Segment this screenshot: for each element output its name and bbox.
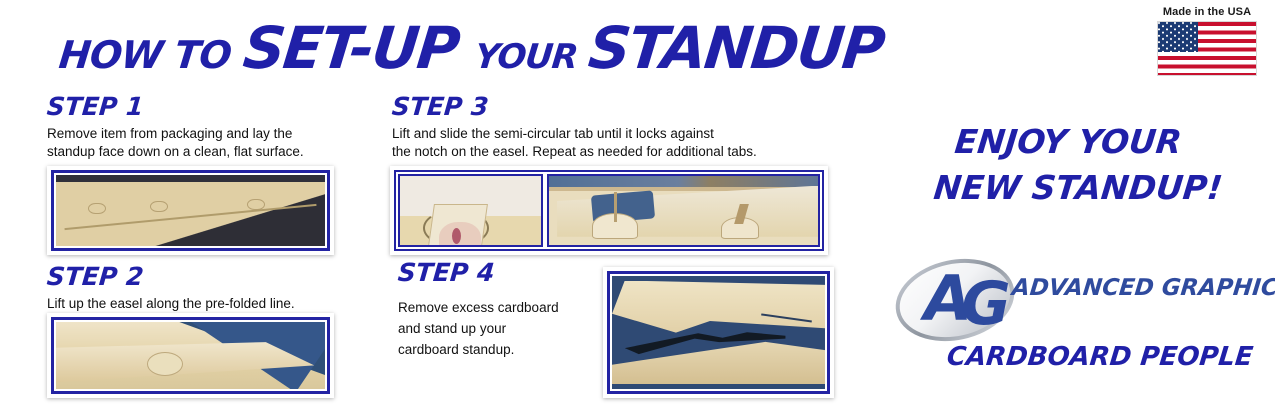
step-1-photo: [56, 175, 325, 246]
step-2-body: Lift up the easel along the pre-folded l…: [47, 295, 295, 313]
scene-nub: [88, 203, 106, 214]
scene-nub: [150, 201, 168, 212]
step-4-scene: [612, 276, 825, 389]
brand-name: ADVANCED GRAPHICS: [1011, 275, 1275, 301]
step-3-body: Lift and slide the semi-circular tab unt…: [392, 125, 757, 161]
step-3-title: STEP 3: [391, 92, 758, 121]
step-4-block: STEP 4 Remove excess cardboard and stand…: [398, 258, 598, 361]
step-3-left-scene: [400, 176, 541, 245]
step-1-photo-frame: [47, 166, 334, 255]
made-in-usa-caption: Made in the USA: [1152, 6, 1262, 18]
semi-circular-tab: [147, 352, 183, 376]
flag-canton: [1158, 22, 1198, 52]
svg-text:G: G: [961, 269, 1010, 339]
step-3-block: STEP 3 Lift and slide the semi-circular …: [392, 92, 757, 161]
step-3-photo-inner: [394, 170, 824, 251]
page-title: HOW TO SET-UP YOUR STANDUP: [56, 14, 886, 82]
scene-hand: [439, 222, 481, 247]
step-4-photo-inner: [607, 271, 830, 394]
step-3-right-scene: [549, 176, 818, 245]
step-1-title: STEP 1: [46, 92, 305, 121]
page-title-part4: STANDUP: [585, 14, 886, 82]
page-title-part1: HOW TO: [57, 33, 245, 77]
ag-oval-logo-icon: A G: [890, 252, 1020, 348]
promo-line-2: NEW STANDUP!: [932, 168, 1224, 207]
promo-line-1: ENJOY YOUR: [953, 122, 1184, 161]
made-in-usa-badge: Made in the USA: [1152, 6, 1262, 76]
step-1-scene: [56, 175, 325, 246]
step-3-photo-left: [398, 174, 543, 247]
step-4-photo-frame: [603, 267, 834, 398]
step-2-block: STEP 2 Lift up the easel along the pre-f…: [47, 262, 295, 313]
page-title-part3: YOUR: [473, 37, 590, 77]
scene-nub: [247, 199, 265, 210]
ag-logo-svg: A G: [890, 252, 1020, 348]
step-2-photo-frame: [47, 313, 334, 398]
step-4-body: Remove excess cardboard and stand up you…: [398, 298, 598, 361]
step-2-photo: [56, 322, 325, 389]
scene-locked-tab-a: [592, 213, 638, 239]
step-3-photos: [398, 174, 820, 247]
brand-tagline: CARDBOARD PEOPLE: [945, 342, 1254, 372]
step-3-photo-right: [547, 174, 820, 247]
step-2-photo-inner: [51, 317, 330, 394]
usa-flag-icon: [1157, 21, 1257, 76]
step-2-title: STEP 2: [46, 262, 296, 291]
step-2-scene: [56, 322, 325, 389]
poster-root: HOW TO SET-UP YOUR STANDUP Made in the U…: [0, 0, 1275, 417]
page-title-part2: SET-UP: [240, 14, 479, 82]
step-1-body: Remove item from packaging and lay the s…: [47, 125, 304, 161]
scene-locked-tab-b: [721, 217, 759, 239]
step-4-title: STEP 4: [397, 258, 600, 287]
step-1-block: STEP 1 Remove item from packaging and la…: [47, 92, 304, 161]
scene-floor: [549, 176, 818, 187]
step-4-photo: [612, 276, 825, 389]
step-3-photo-frame: [390, 166, 828, 255]
step-1-photo-inner: [51, 170, 330, 251]
